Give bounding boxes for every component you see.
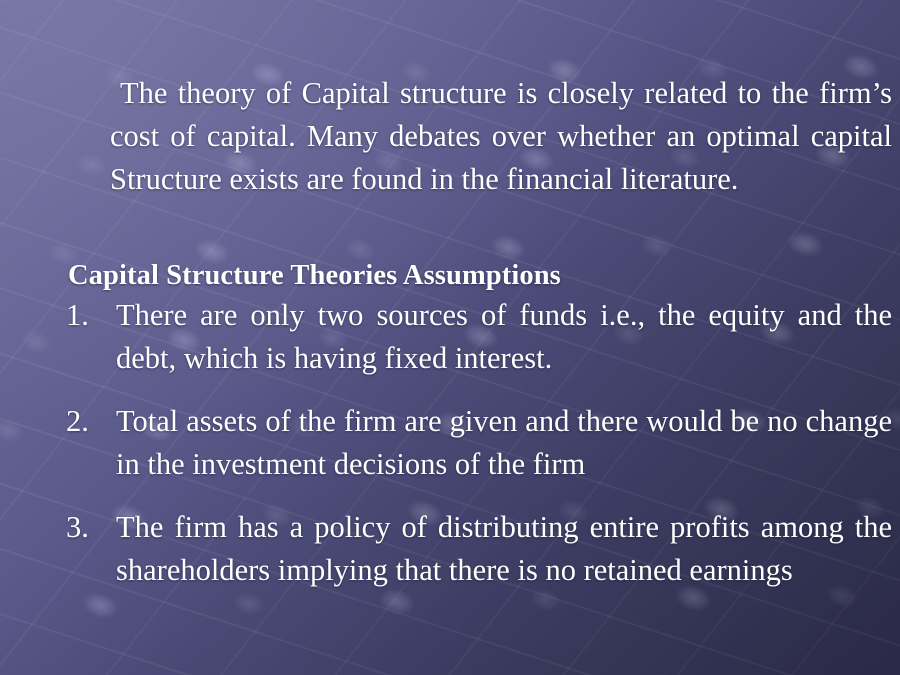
intro-paragraph: The theory of Capital structure is close… [110,72,892,201]
assumptions-list: 1. There are only two sources of funds i… [66,294,892,592]
assumption-number-1: 1. [66,294,106,337]
assumption-text-2: Total assets of the firm are given and t… [116,400,892,486]
assumption-item-1: 1. There are only two sources of funds i… [66,294,892,380]
assumption-number-3: 3. [66,506,106,549]
assumption-text-1: There are only two sources of funds i.e.… [116,294,892,380]
assumption-item-2: 2. Total assets of the firm are given an… [66,400,892,486]
section-heading: Capital Structure Theories Assumptions [68,257,561,295]
assumption-text-3: The firm has a policy of distributing en… [116,506,892,592]
assumption-number-2: 2. [66,400,106,443]
assumption-item-3: 3. The firm has a policy of distributing… [66,506,892,592]
presentation-slide: The theory of Capital structure is close… [0,0,900,675]
